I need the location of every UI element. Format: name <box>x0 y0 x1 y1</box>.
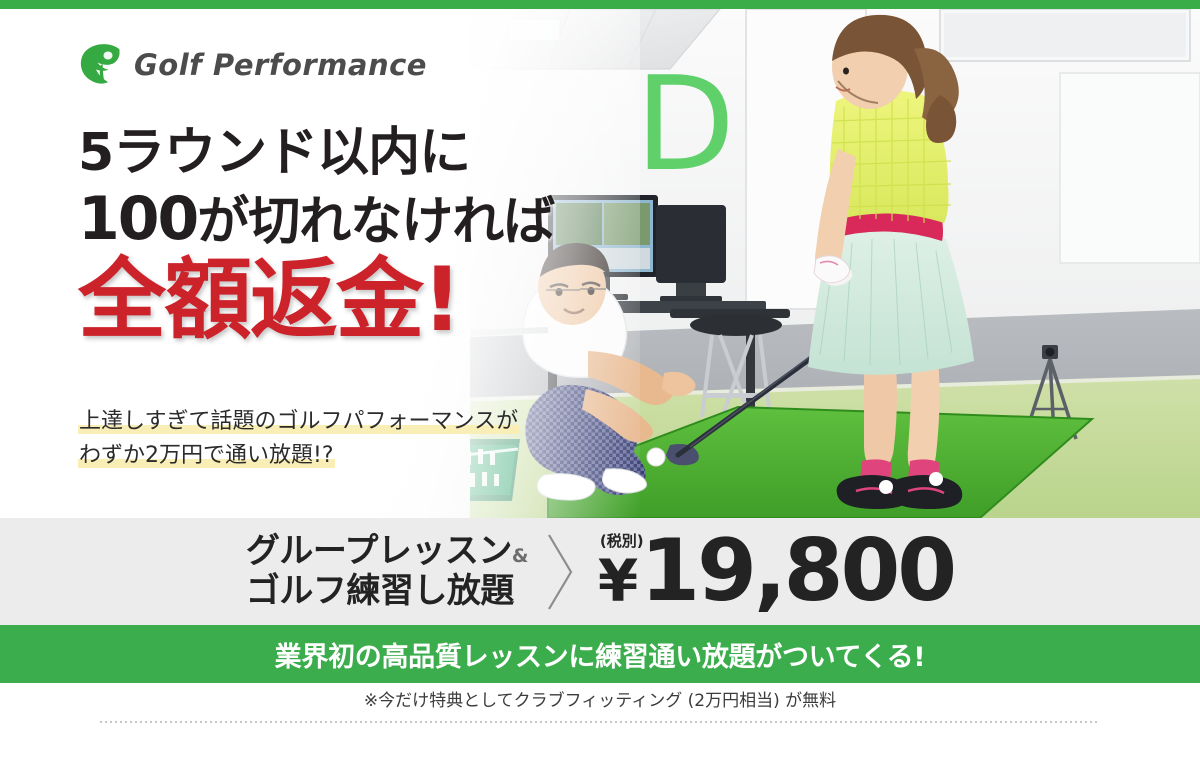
headline-block: 5ラウンド以内に 100が切れなければ 全額返金! <box>78 127 618 345</box>
subcopy-line-1: 上達しすぎて話題のゴルフパフォーマンスが <box>78 405 598 439</box>
plan-label: グループレッスン& ゴルフ練習し放題 <box>246 532 528 611</box>
brand-name: Golf Performance <box>134 48 427 82</box>
svg-text:D: D <box>635 48 735 200</box>
plan-label-line-1-text: グループレッスン <box>246 531 512 571</box>
subcopy-line-2-text: わずか2万円で通い放題!? <box>78 443 335 468</box>
headline-line-2: 100が切れなければ <box>78 189 618 249</box>
brand-logo[interactable]: Golf Performance <box>78 42 427 88</box>
subcopy-block: 上達しすぎて話題のゴルフパフォーマンスが わずか2万円で通い放題!? <box>78 405 598 473</box>
plan-label-line-2: ゴルフ練習し放題 <box>246 572 528 611</box>
subcopy-line-2: わずか2万円で通い放題!? <box>78 439 598 473</box>
top-green-rule <box>0 0 1200 9</box>
hero-section: D <box>0 9 1200 518</box>
headline-refund-line: 全額返金! <box>78 255 618 345</box>
golf-swoosh-icon <box>78 42 124 88</box>
plan-label-ampersand: & <box>512 545 528 567</box>
headline-number-100: 100 <box>78 184 197 254</box>
bonus-note: ※今だけ特典としてクラブフィッティング (2万円相当) が無料 <box>0 686 1200 711</box>
price-band-inner: グループレッスン& ゴルフ練習し放題 (税別) ¥ 19,800 <box>246 530 954 614</box>
tax-note: (税別) <box>600 530 644 551</box>
price-band: グループレッスン& ゴルフ練習し放題 (税別) ¥ 19,800 <box>0 518 1200 625</box>
plan-label-line-1: グループレッスン& <box>246 532 528 571</box>
green-banner-text: 業界初の高品質レッスンに練習通い放題がついてくる! <box>275 635 926 674</box>
currency-symbol: ¥ <box>598 554 638 611</box>
promo-banner-page: D <box>0 0 1200 763</box>
subcopy-line-1-text: 上達しすぎて話題のゴルフパフォーマンスが <box>78 409 519 434</box>
dotted-divider <box>100 721 1100 723</box>
price-amount: 19,800 <box>640 532 954 611</box>
chevron-right-icon <box>528 530 592 614</box>
headline-line-2-rest: が切れなければ <box>197 192 554 252</box>
price-display: (税別) ¥ 19,800 <box>592 532 954 611</box>
green-banner: 業界初の高品質レッスンに練習通い放題がついてくる! <box>0 625 1200 683</box>
headline-line-1: 5ラウンド以内に <box>78 127 618 179</box>
